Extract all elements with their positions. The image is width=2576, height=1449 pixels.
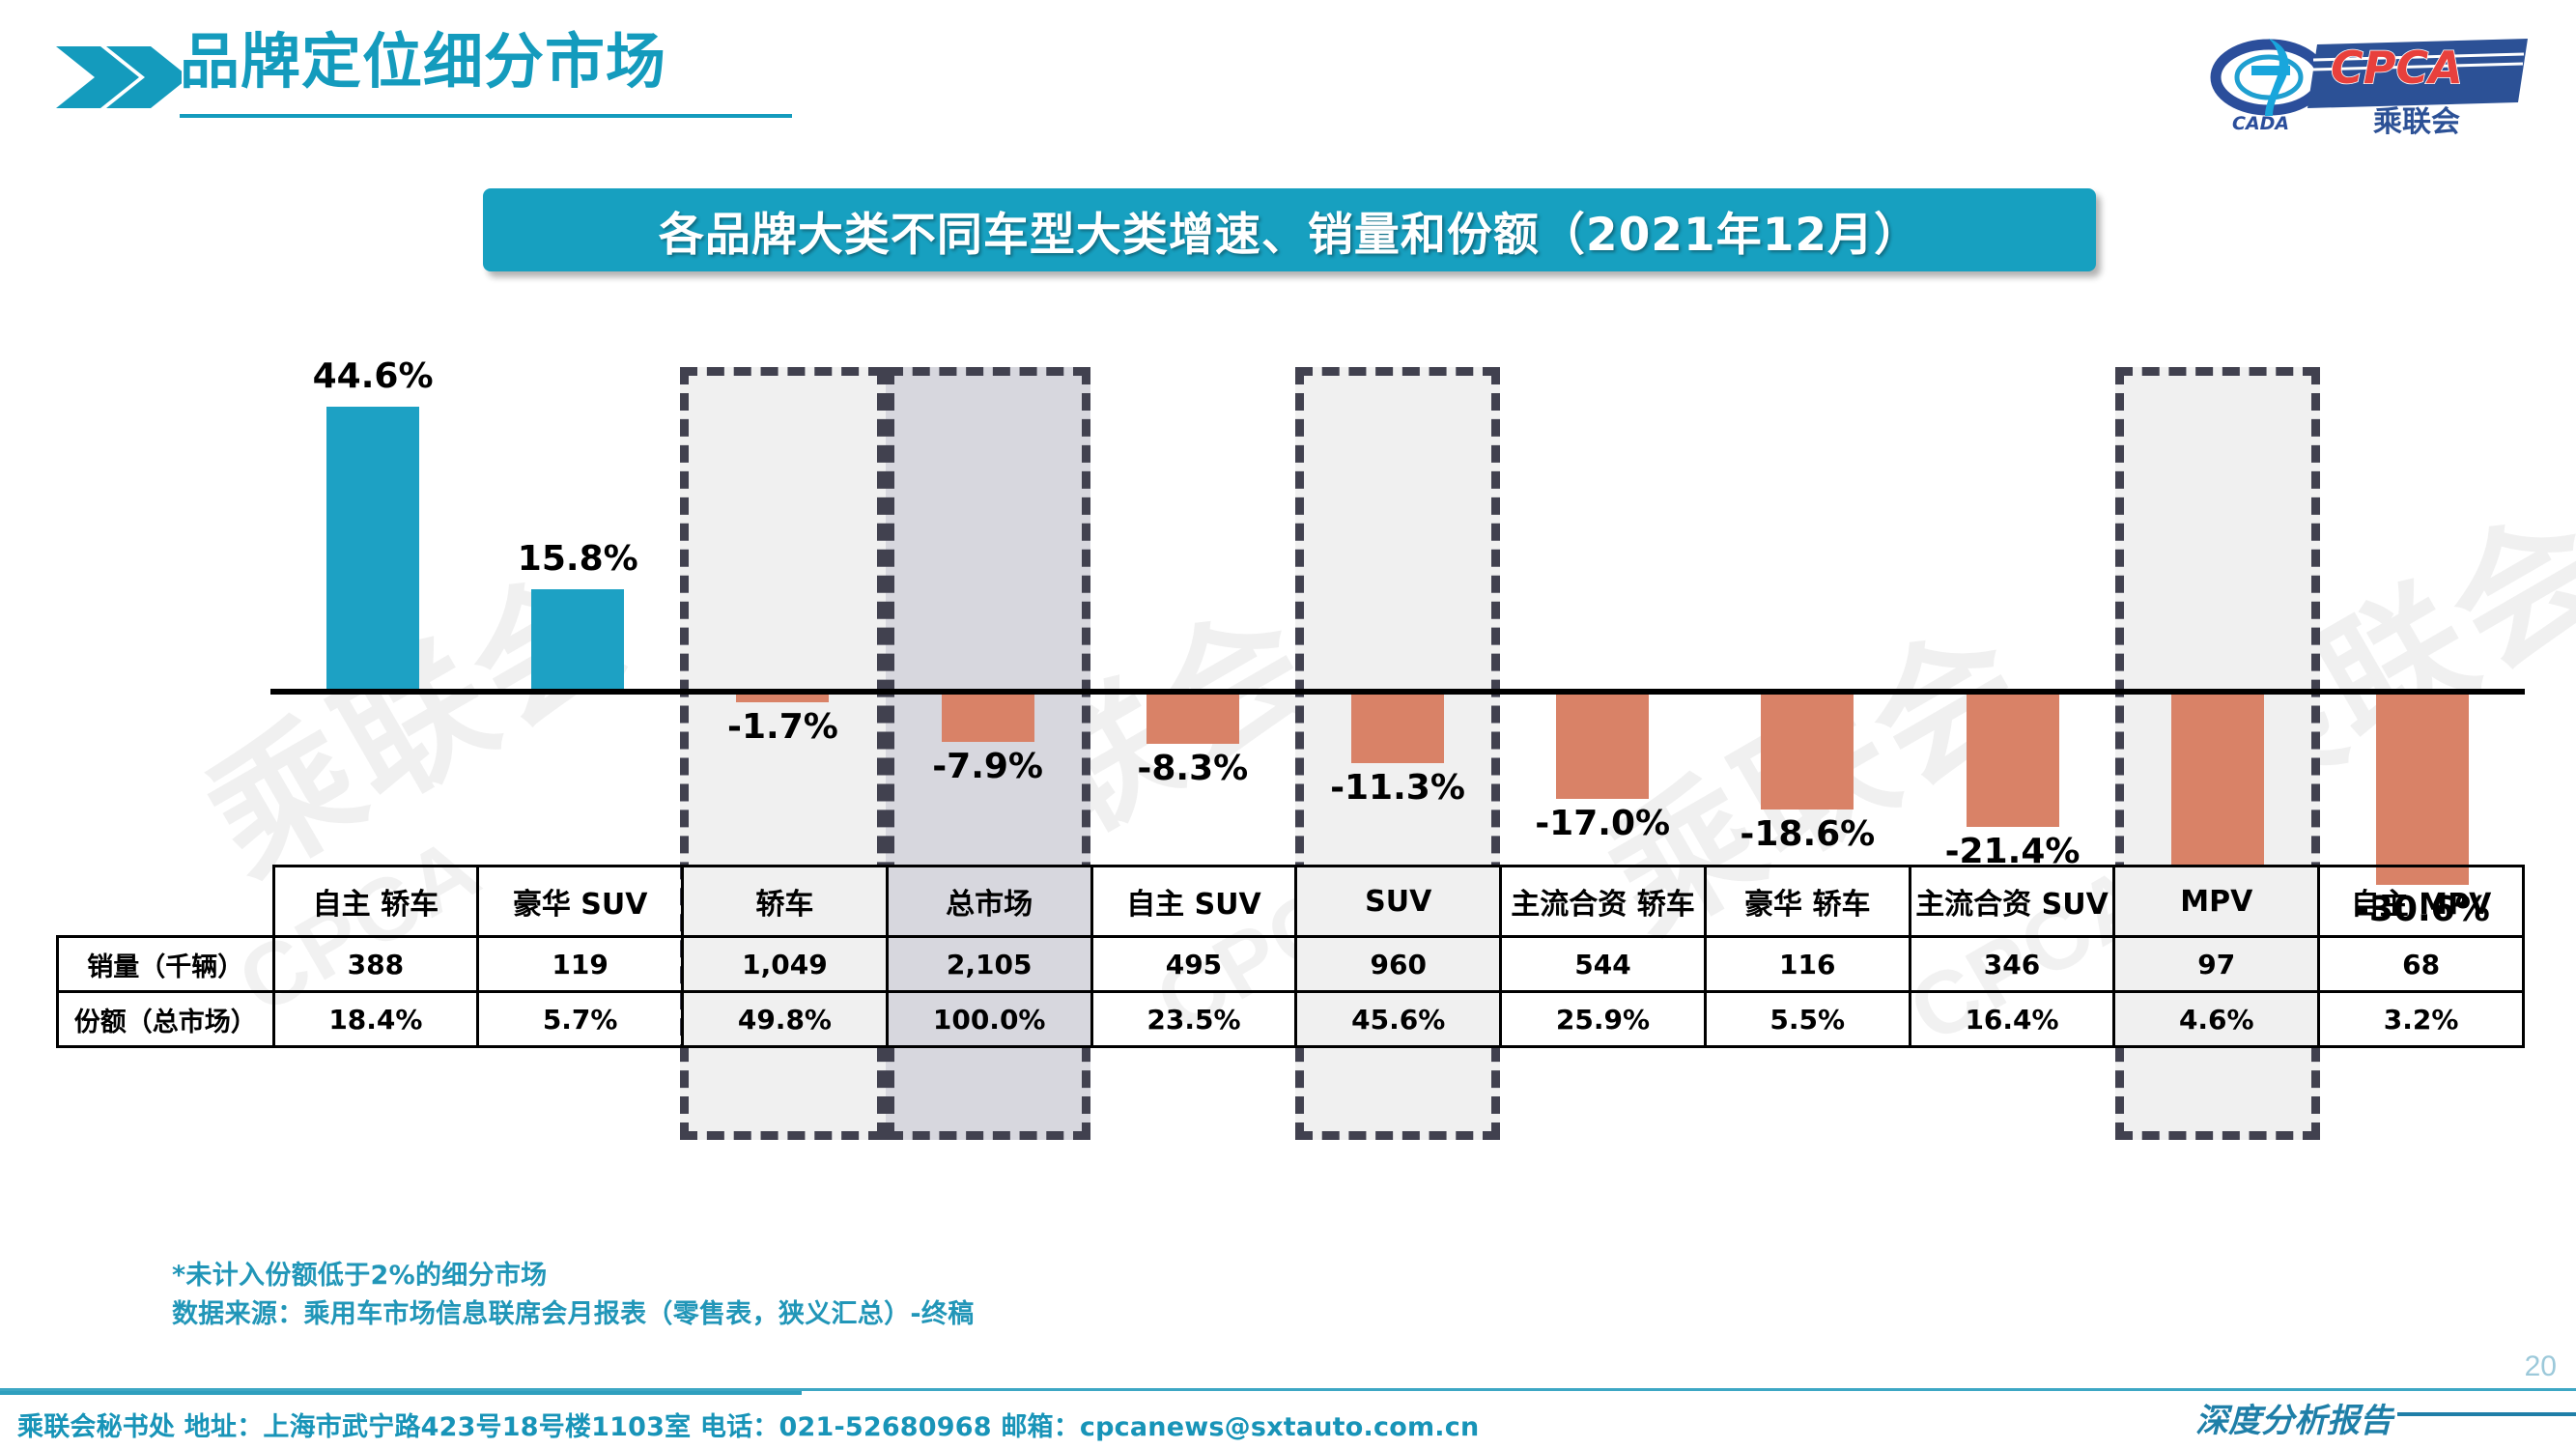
footer-contact: 乘联会秘书处 地址：上海市武宁路423号18号楼1103室 电话：021-526… — [17, 1406, 1479, 1443]
table-cell: 960 — [1296, 937, 1501, 992]
table-cell: 5.7% — [478, 992, 683, 1047]
table-cell: 119 — [478, 937, 683, 992]
bar-自主 SUV — [1146, 692, 1239, 744]
bar-豪华 轿车 — [1761, 692, 1854, 810]
bar-SUV — [1351, 692, 1444, 763]
bar-自主 MPV — [2376, 692, 2469, 885]
table-header-row: 自主 轿车豪华 SUV轿车总市场自主 SUVSUV主流合资 轿车豪华 轿车主流合… — [58, 867, 2524, 937]
table-cell: 97 — [2114, 937, 2319, 992]
footer-divider-accent — [0, 1391, 802, 1395]
chart-title: 各品牌大类不同车型大类增速、销量和份额（2021年12月） — [659, 197, 1920, 264]
table-column-header-主流合资 SUV: 主流合资 SUV — [1910, 867, 2114, 937]
footer-brand-rule — [2397, 1412, 2576, 1416]
table-column-header-自主 MPV: 自主 MPV — [2319, 867, 2524, 937]
bar-自主 轿车 — [326, 407, 419, 689]
table-cell: 23.5% — [1091, 992, 1296, 1047]
page-title-underline — [180, 114, 792, 118]
table-column-header-总市场: 总市场 — [887, 867, 1091, 937]
table-column-header-主流合资 轿车: 主流合资 轿车 — [1501, 867, 1706, 937]
svg-text:CPCA: CPCA — [2331, 42, 2463, 94]
table-cell: 68 — [2319, 937, 2524, 992]
table-cell: 388 — [273, 937, 478, 992]
table-cell: 544 — [1501, 937, 1706, 992]
bar-总市场 — [942, 692, 1034, 742]
svg-text:CADA: CADA — [2232, 113, 2289, 134]
table-row-label: 销量（千辆） — [58, 937, 274, 992]
svg-text:乘联会: 乘联会 — [2373, 105, 2460, 138]
bar-主流合资 轿车 — [1556, 692, 1649, 799]
table-cell: 5.5% — [1705, 992, 1910, 1047]
table-cell: 2,105 — [887, 937, 1091, 992]
footnote-line-1: *未计入份额低于2%的细分市场 — [172, 1254, 547, 1292]
table-cell: 116 — [1705, 937, 1910, 992]
page-title: 品牌定位细分市场 — [180, 32, 666, 92]
table-cell: 49.8% — [683, 992, 888, 1047]
footnote-line-2: 数据来源：乘用车市场信息联席会月报表（零售表，狭义汇总）-终稿 — [172, 1293, 975, 1330]
bar-MPV — [2171, 692, 2264, 879]
table-column-header-豪华 轿车: 豪华 轿车 — [1705, 867, 1910, 937]
double-chevron-right-icon — [56, 46, 182, 108]
bar-主流合资 SUV — [1967, 692, 2059, 827]
table-cell: 4.6% — [2114, 992, 2319, 1047]
bar-label-轿车: -1.7% — [661, 707, 904, 747]
table-cell: 100.0% — [887, 992, 1091, 1047]
table-row-label: 份额（总市场） — [58, 992, 274, 1047]
table-cell: 18.4% — [273, 992, 478, 1047]
data-table: 自主 轿车豪华 SUV轿车总市场自主 SUVSUV主流合资 轿车豪华 轿车主流合… — [56, 865, 2525, 1048]
table-column-header-轿车: 轿车 — [683, 867, 888, 937]
table-cell: 1,049 — [683, 937, 888, 992]
table-cell: 3.2% — [2319, 992, 2524, 1047]
table-column-header-SUV: SUV — [1296, 867, 1501, 937]
footer-brand: 深度分析报告 — [2195, 1394, 2392, 1441]
cpca-logo: CADA CPCA 乘联会 — [2209, 27, 2528, 138]
table-corner-cell — [58, 867, 274, 937]
bar-label-自主 轿车: 44.6% — [251, 356, 495, 396]
table-cell: 346 — [1910, 937, 2114, 992]
table-column-header-豪华 SUV: 豪华 SUV — [478, 867, 683, 937]
bar-label-SUV: -11.3% — [1276, 768, 1519, 808]
table-cell: 16.4% — [1910, 992, 2114, 1047]
table-cell: 45.6% — [1296, 992, 1501, 1047]
table-row: 份额（总市场）18.4%5.7%49.8%100.0%23.5%45.6%25.… — [58, 992, 2524, 1047]
zero-axis-line — [270, 689, 2525, 695]
table-column-header-MPV: MPV — [2114, 867, 2319, 937]
table-column-header-自主 SUV: 自主 SUV — [1091, 867, 1296, 937]
bar-label-豪华 SUV: 15.8% — [456, 539, 699, 579]
table-row: 销量（千辆）3881191,0492,105495960544116346976… — [58, 937, 2524, 992]
table-cell: 495 — [1091, 937, 1296, 992]
table-cell: 25.9% — [1501, 992, 1706, 1047]
page-number: 20 — [2525, 1350, 2557, 1383]
bar-豪华 SUV — [531, 589, 624, 689]
chart-title-banner: 各品牌大类不同车型大类增速、销量和份额（2021年12月） — [483, 188, 2096, 271]
table-column-header-自主 轿车: 自主 轿车 — [273, 867, 478, 937]
